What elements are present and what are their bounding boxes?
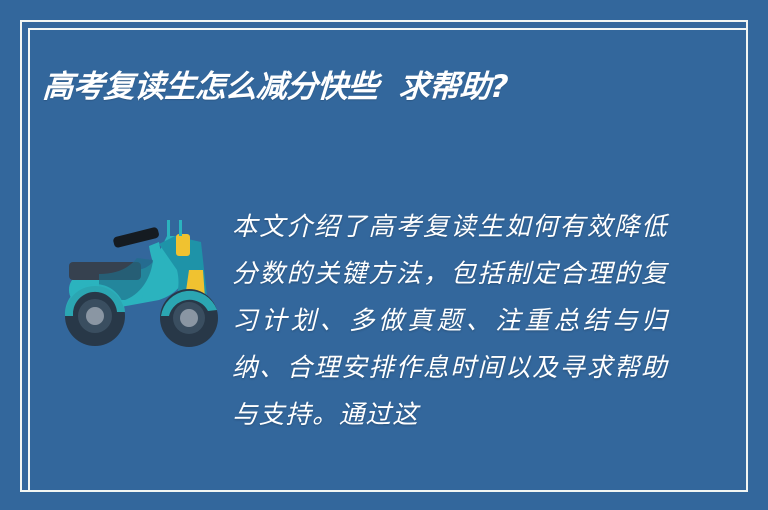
- scooter-icon: [55, 212, 227, 356]
- frame-mask-bottom: [0, 492, 768, 510]
- article-summary-text: 本文介绍了高考复读生如何有效降低分数的关键方法，包括制定合理的复习计划、多做真题…: [232, 204, 668, 439]
- frame-mask-right: [748, 0, 768, 510]
- article-cover-card: 高考复读生怎么减分快些 求帮助?: [0, 0, 768, 510]
- page-title: 高考复读生怎么减分快些 求帮助?: [41, 62, 684, 113]
